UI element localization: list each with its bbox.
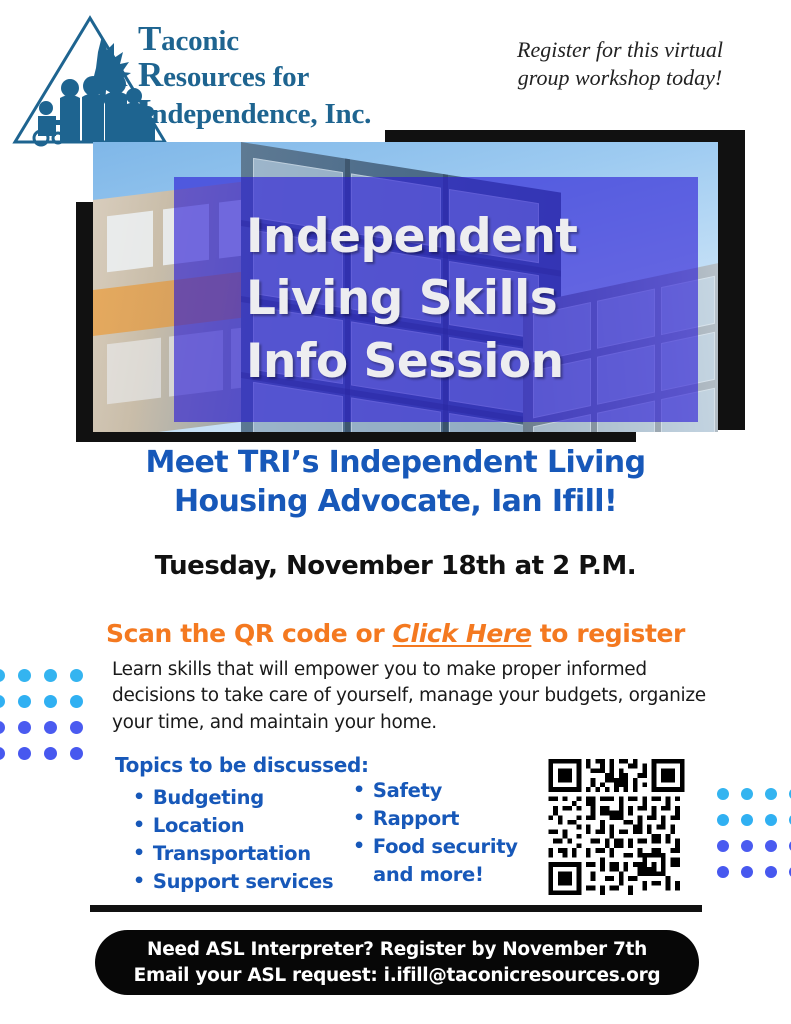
list-item: •Rapport: [353, 806, 543, 833]
cta-text-before: Scan the QR code or: [106, 619, 393, 648]
footer-line-1: Need ASL Interpreter? Register by Novemb…: [147, 937, 647, 963]
topics-heading: Topics to be discussed:: [115, 753, 369, 777]
hero-photo: Independent Living Skills Info Session: [93, 142, 718, 432]
list-item: •Support services: [133, 869, 363, 896]
bullet-icon: •: [133, 785, 145, 810]
topics-column-1: •Budgeting •Location •Transportation •Su…: [133, 785, 363, 897]
cta-text-after: to register: [531, 619, 685, 648]
hero-title-overlay: Independent Living Skills Info Session: [174, 177, 698, 422]
topic-label: Safety: [373, 778, 442, 805]
kicker-line-1: Register for this virtual: [470, 36, 770, 64]
subject-heading-line-1: Meet TRI’s Independent Living: [60, 443, 731, 482]
logo-wordmark: Taconic Resources for Independence, Inc.: [138, 22, 458, 129]
bullet-icon: •: [353, 834, 365, 859]
kicker-line-2: group workshop today!: [470, 64, 770, 92]
decorative-dot-grid-left: [0, 663, 90, 767]
click-here-link[interactable]: Click Here: [393, 619, 532, 648]
decorative-dot-grid-right: [711, 782, 791, 886]
list-item: •Transportation: [133, 841, 363, 868]
hero-title-line-3: Info Session: [246, 331, 698, 393]
qr-code-registration[interactable]: [543, 759, 690, 895]
topic-label: Rapport: [373, 806, 459, 833]
list-item: •Location: [133, 813, 363, 840]
registration-cta: Scan the QR code or Click Here to regist…: [60, 619, 731, 648]
register-kicker: Register for this virtual group workshop…: [470, 36, 770, 92]
bullet-icon: •: [133, 869, 145, 894]
description-paragraph: Learn skills that will empower you to ma…: [112, 657, 712, 736]
bullet-icon: •: [353, 806, 365, 831]
logo-line-1: Taconic: [138, 22, 458, 56]
topic-label: Food security: [373, 834, 518, 861]
logo-line-2: Resources for: [138, 58, 458, 92]
topic-label: Location: [153, 813, 244, 840]
topics-column-2: •Safety •Rapport •Food security and more…: [353, 778, 543, 889]
hero-title-line-2: Living Skills: [246, 268, 698, 330]
bullet-icon: •: [353, 778, 365, 803]
topic-label: Transportation: [153, 841, 311, 868]
list-item: •Food security: [353, 834, 543, 861]
hero-title-line-1: Independent: [246, 206, 698, 268]
event-datetime: Tuesday, November 18th at 2 P.M.: [60, 551, 731, 581]
list-item: •Budgeting: [133, 785, 363, 812]
subject-heading: Meet TRI’s Independent Living Housing Ad…: [60, 443, 731, 521]
asl-footer-banner: Need ASL Interpreter? Register by Novemb…: [95, 930, 699, 995]
footer-line-2: Email your ASL request: i.ifill@taconicr…: [134, 963, 661, 989]
hero-title: Independent Living Skills Info Session: [174, 177, 698, 422]
topic-label: Support services: [153, 869, 333, 896]
hero-banner: Independent Living Skills Info Session: [60, 120, 740, 445]
list-item: •Safety: [353, 778, 543, 805]
divider-rule: [90, 905, 702, 912]
flyer-page: Taconic Resources for Independence, Inc.…: [0, 0, 791, 1024]
topic-label: Budgeting: [153, 785, 264, 812]
bullet-icon: •: [133, 813, 145, 838]
subject-heading-line-2: Housing Advocate, Ian Ifill!: [60, 482, 731, 521]
topic-label-continuation: and more!: [353, 862, 543, 889]
bullet-icon: •: [133, 841, 145, 866]
